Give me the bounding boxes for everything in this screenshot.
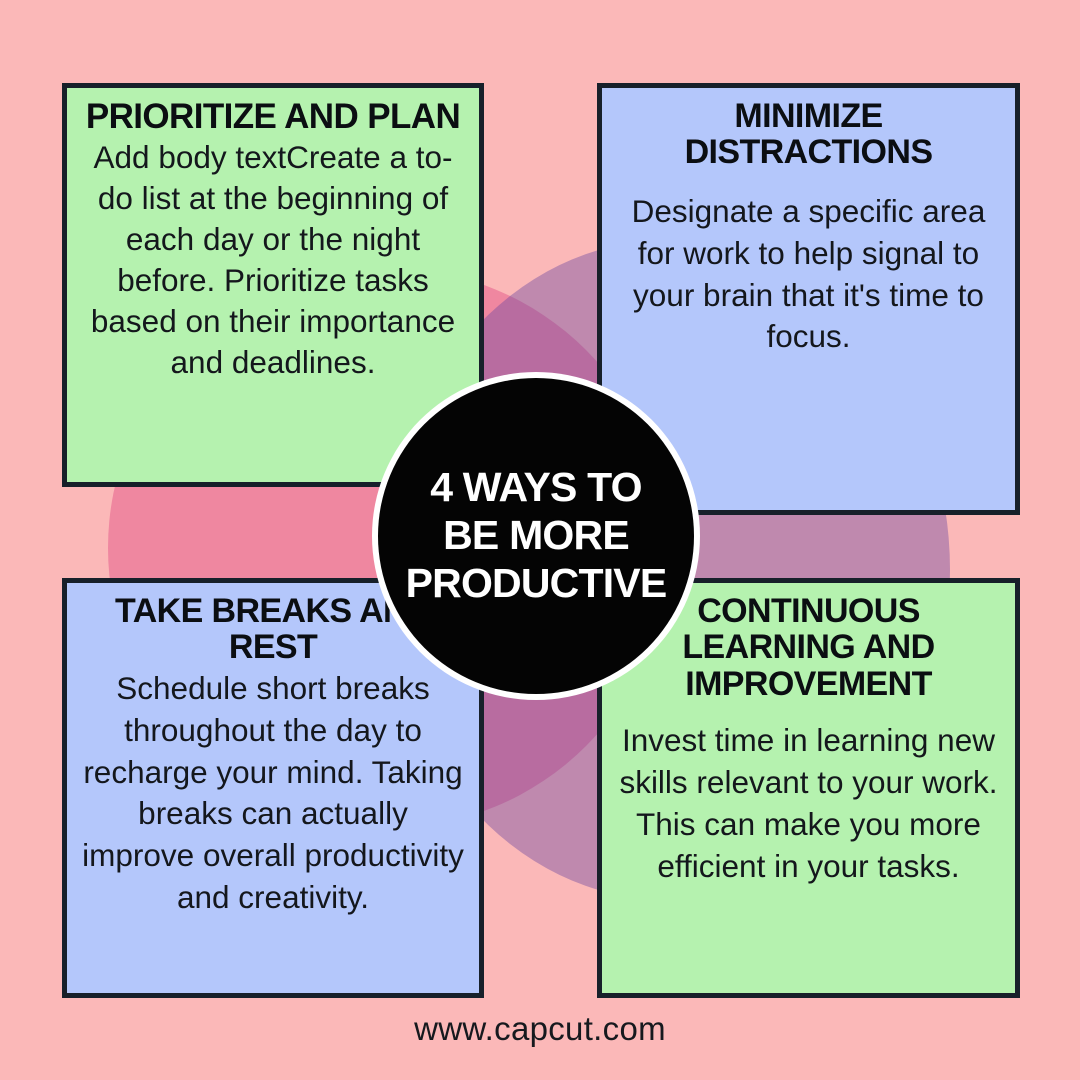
card-continuous-learning-and-improvement: CONTINUOUS LEARNING AND IMPROVEMENT Inve… bbox=[597, 578, 1020, 998]
card-body-continuous-learning-and-improvement: Invest time in learning new skills relev… bbox=[616, 720, 1001, 888]
badge-line-2: BE MORE bbox=[406, 512, 667, 560]
card-body-take-breaks-and-rest: Schedule short breaks throughout the day… bbox=[81, 668, 465, 919]
card-body-minimize-distractions: Designate a specific area for work to he… bbox=[616, 191, 1001, 359]
infographic-poster: PRIORITIZE AND PLAN Add body textCreate … bbox=[0, 0, 1080, 1080]
center-badge-circle: 4 WAYS TO BE MORE PRODUCTIVE bbox=[378, 378, 694, 694]
badge-line-1: 4 WAYS TO bbox=[406, 464, 667, 512]
footer-website-url: www.capcut.com bbox=[0, 1010, 1080, 1048]
center-badge-text: 4 WAYS TO BE MORE PRODUCTIVE bbox=[406, 464, 667, 608]
badge-line-3: PRODUCTIVE bbox=[406, 560, 667, 608]
card-body-prioritize-and-plan: Add body textCreate a to-do list at the … bbox=[81, 137, 465, 383]
card-title-prioritize-and-plan: PRIORITIZE AND PLAN bbox=[81, 98, 465, 135]
card-title-minimize-distractions: MINIMIZE DISTRACTIONS bbox=[616, 98, 1001, 171]
